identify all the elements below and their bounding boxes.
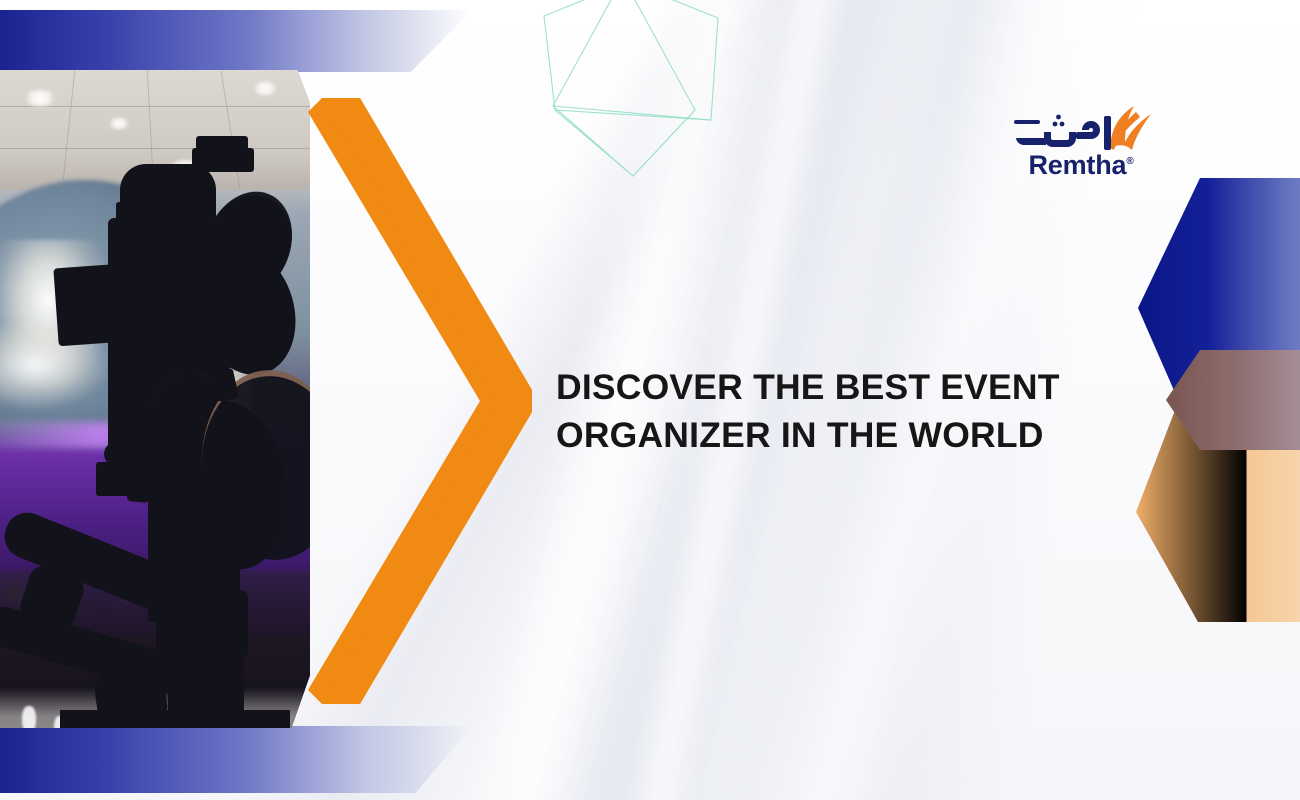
tripod-base [60,710,290,728]
headline-line-2: ORGANIZER IN THE WORLD [556,412,1116,460]
hero-photo [0,70,310,728]
hero-banner: Remtha® DISCOVER THE BEST EVENT ORGANIZE… [0,0,1300,800]
brand-wordmark: Remtha® [1006,152,1156,179]
camera-lens-ring [162,610,244,626]
brand-logo[interactable]: Remtha® [1006,100,1156,192]
hexagon-cluster [1120,160,1300,640]
headline-line-1: DISCOVER THE BEST EVENT [556,364,1116,412]
hero-photo-scene [0,70,310,728]
brand-wordmark-text: Remtha [1029,150,1127,180]
camera-lens-hood [168,654,244,718]
arabic-wordmark-icon [1006,100,1156,156]
camera-top-handle [196,136,248,150]
video-camera [0,70,310,728]
teal-wireframe-polygon [515,0,745,194]
orange-chevron [300,60,540,740]
cable-plug [211,368,239,402]
trademark-symbol: ® [1126,156,1133,167]
page-title: DISCOVER THE BEST EVENT ORGANIZER IN THE… [556,364,1116,459]
cable-plug [127,475,152,503]
